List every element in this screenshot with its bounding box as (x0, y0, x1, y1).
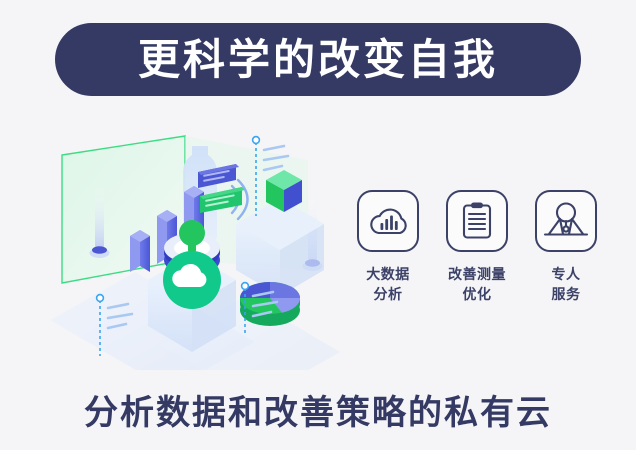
clipboard-icon (460, 201, 494, 241)
feature-label-line2: 分析 (366, 285, 410, 305)
feature-label-measurement-optimization: 改善测量 优化 (448, 265, 506, 305)
feature-list: 大数据 分析 改善测量 优化 (352, 190, 602, 340)
feature-item-measurement-optimization[interactable]: 改善测量 优化 (441, 190, 513, 305)
page-title: 更科学的改变自我 (138, 39, 498, 81)
feature-icon-frame (446, 190, 508, 252)
footer-headline: 分析数据和改善策略的私有云 (0, 385, 636, 434)
feature-item-big-data-analysis[interactable]: 大数据 分析 (352, 190, 424, 305)
feature-label-line2: 服务 (552, 285, 581, 305)
service-person-icon (543, 201, 589, 241)
feature-label-line1: 大数据 (366, 265, 410, 285)
header-banner: 更科学的改变自我 (55, 23, 581, 96)
feature-icon-frame (535, 190, 597, 252)
poster-canvas: 更科学的改变自我 (0, 0, 636, 450)
feature-item-dedicated-service[interactable]: 专人 服务 (530, 190, 602, 305)
isometric-data-cloud-illustration (40, 120, 350, 370)
feature-label-dedicated-service: 专人 服务 (552, 265, 581, 305)
feature-icon-frame (357, 190, 419, 252)
feature-label-line2: 优化 (448, 285, 506, 305)
illustration-svg (40, 120, 350, 370)
cloud-bar-chart-icon (367, 202, 409, 240)
feature-label-line1: 改善测量 (448, 265, 506, 285)
feature-label-line1: 专人 (552, 265, 581, 285)
green-cloud-badge (163, 251, 221, 309)
feature-label-big-data-analysis: 大数据 分析 (366, 265, 410, 305)
